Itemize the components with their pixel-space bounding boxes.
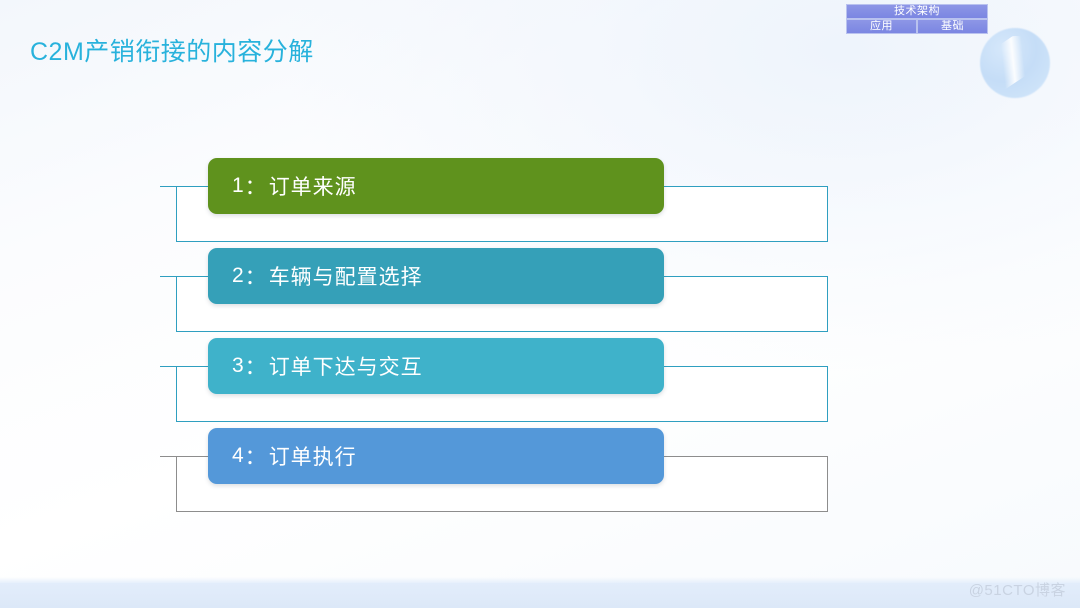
step-bar[interactable]: 3：订单下达与交互 [208, 338, 664, 394]
step-label: 车辆与配置选择 [269, 261, 423, 291]
architecture-badge-header-row: 技术架构 [846, 4, 988, 19]
step-bar[interactable]: 4：订单执行 [208, 428, 664, 484]
step-separator: ： [245, 261, 267, 291]
step-number: 1 [232, 174, 245, 198]
step-label: 订单下达与交互 [269, 351, 423, 381]
architecture-badge-sub-row: 应用 基础 [846, 19, 988, 34]
step-separator: ： [245, 351, 267, 381]
step-bar[interactable]: 2：车辆与配置选择 [208, 248, 664, 304]
architecture-badge-cell-application: 应用 [846, 19, 917, 34]
step-number: 4 [232, 444, 245, 468]
step-bar[interactable]: 1：订单来源 [208, 158, 664, 214]
step-number: 3 [232, 354, 245, 378]
step-separator: ： [245, 441, 267, 471]
architecture-badge: 技术架构 应用 基础 [846, 4, 988, 34]
watermark: @51CTO博客 [969, 579, 1066, 600]
bottom-decorative-band [0, 583, 1080, 608]
decorative-circle-highlight [988, 36, 1044, 92]
step-label: 订单执行 [269, 441, 357, 471]
architecture-badge-cell-foundation: 基础 [917, 19, 988, 34]
page-title: C2M产销衔接的内容分解 [30, 32, 314, 68]
step-label: 订单来源 [269, 171, 357, 201]
step-separator: ： [245, 171, 267, 201]
slide-canvas: C2M产销衔接的内容分解 技术架构 应用 基础 1：订单来源2：车辆与配置选择3… [0, 0, 1080, 608]
step-number: 2 [232, 264, 245, 288]
architecture-badge-header: 技术架构 [846, 4, 988, 19]
